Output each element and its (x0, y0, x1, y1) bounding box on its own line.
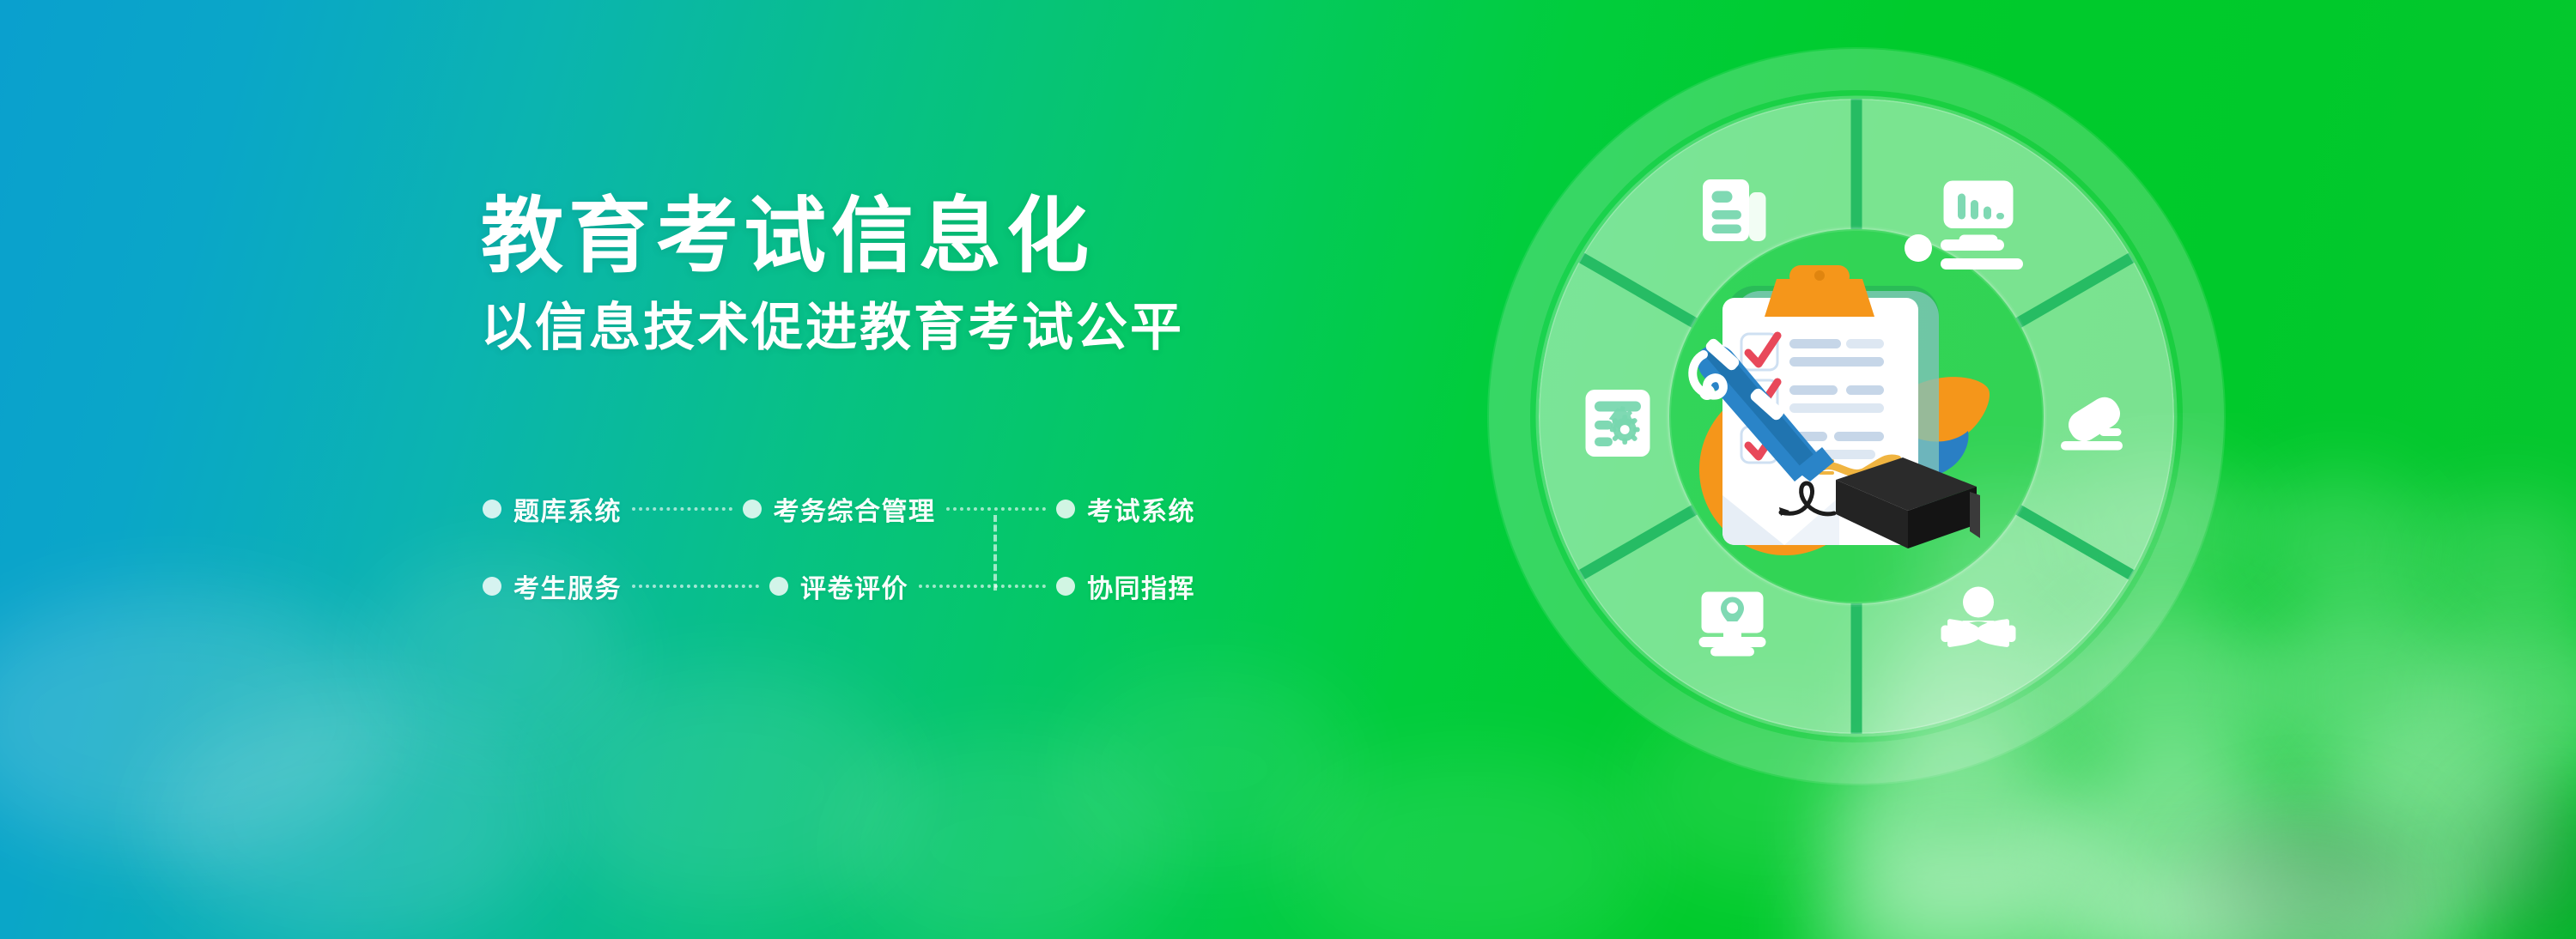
bullet-dot-icon (743, 500, 762, 518)
bullet-dot-icon (483, 500, 501, 518)
banner-text-block: 教育考试信息化 以信息技术促进教育考试公平 (481, 191, 1425, 359)
feature-item-grading-evaluation[interactable]: 评卷评价 (800, 567, 908, 605)
exam-platform-wheel-graphic (1487, 47, 2226, 785)
feature-row-1: 题库系统 考务综合管理 考试系统 (483, 489, 1195, 529)
bullet-dot-icon (769, 577, 788, 596)
dotted-connector (632, 585, 759, 588)
bullet-dot-icon (483, 577, 501, 596)
feature-item-exam-system[interactable]: 考试系统 (1087, 490, 1195, 528)
feature-item-candidate-service[interactable]: 考生服务 (513, 567, 622, 605)
page-title: 教育考试信息化 (481, 191, 1425, 283)
feature-item-collaborative-command[interactable]: 协同指挥 (1087, 567, 1195, 605)
feature-list: 题库系统 考务综合管理 考试系统 考生服务 评卷评价 协同指挥 (483, 489, 1195, 606)
clipboard-clip (1765, 265, 1874, 317)
education-exam-banner: 教育考试信息化 以信息技术促进教育考试公平 题库系统 考务综合管理 考试系统 考… (0, 0, 2576, 939)
page-subtitle: 以信息技术促进教育考试公平 (481, 297, 1425, 359)
bullet-dot-icon (1056, 500, 1075, 518)
status-label (1905, 234, 2023, 270)
dotted-connector (919, 585, 1046, 588)
dotted-connector (632, 507, 732, 511)
vertical-dashed-connector (993, 515, 997, 591)
feature-row-2: 考生服务 评卷评价 协同指挥 (483, 566, 1195, 606)
document-gear-icon[interactable] (1577, 382, 1659, 464)
dotted-connector (946, 507, 1047, 511)
clipboard-checklist-illustration (1652, 212, 2056, 615)
eraser-icon[interactable] (2056, 382, 2138, 464)
bullet-dot-icon (1056, 577, 1075, 596)
feature-item-question-bank[interactable]: 题库系统 (513, 490, 622, 528)
feature-item-exam-admin[interactable]: 考务综合管理 (774, 490, 936, 528)
